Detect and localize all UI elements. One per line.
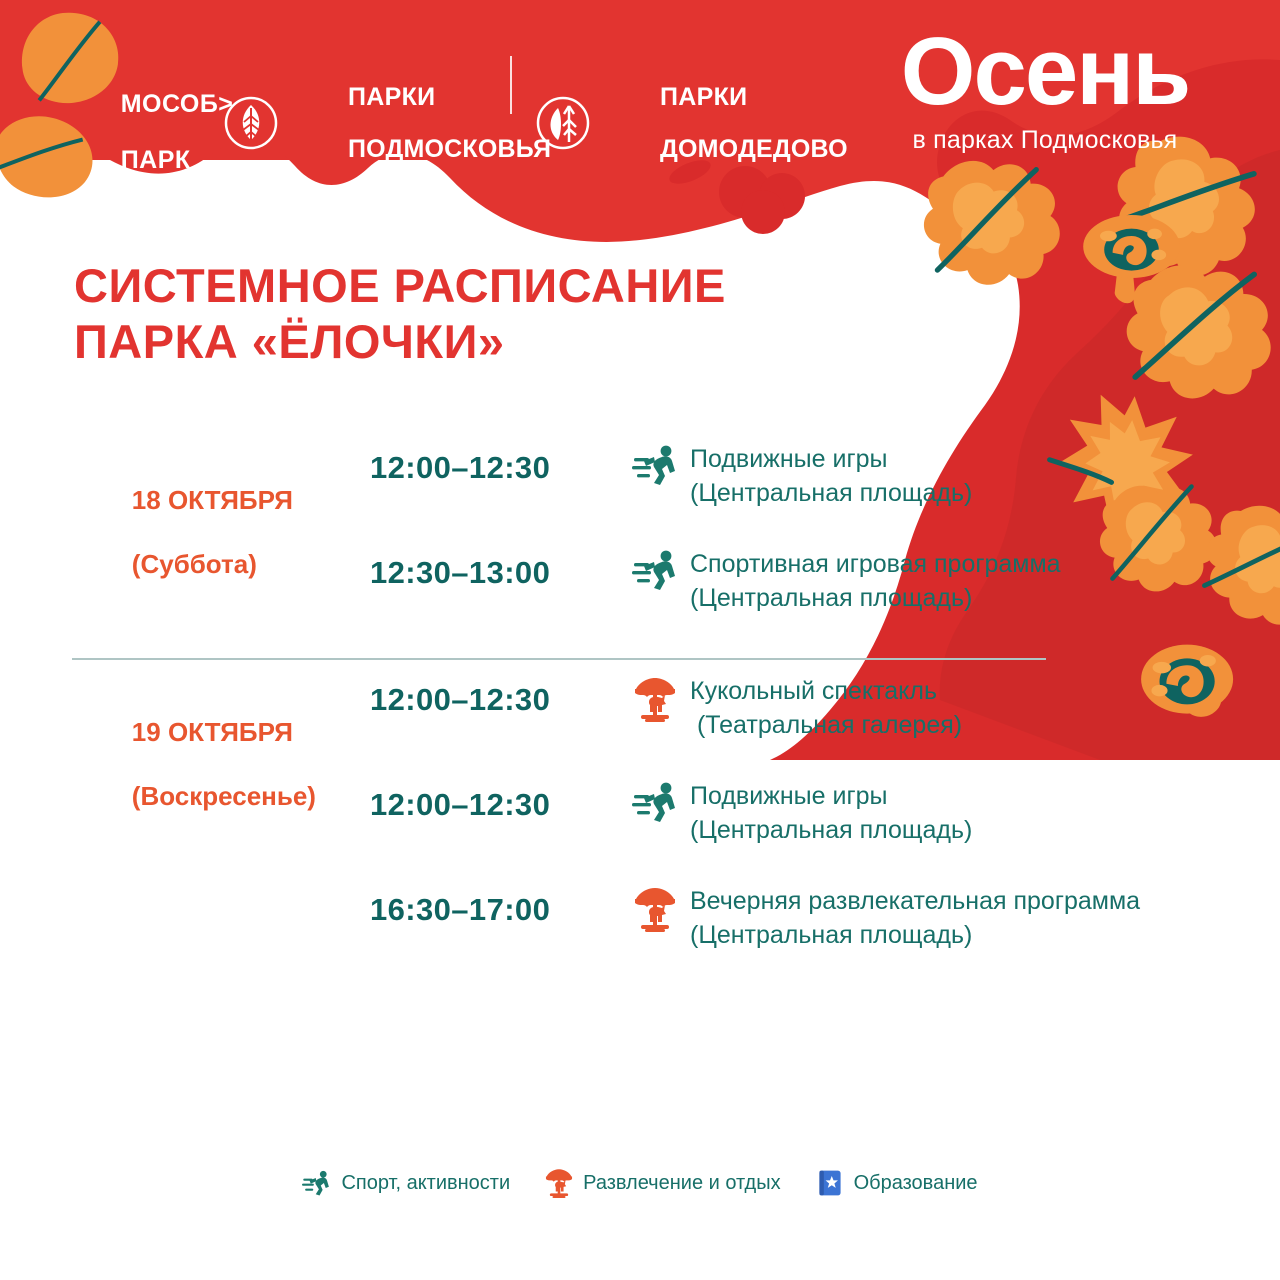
schedule-day-block: 18 ОКТЯБРЯ (Суббота) 12:00–12:30 — [0, 440, 1280, 650]
event-time: 16:30–17:00 — [370, 882, 632, 928]
event-time: 12:00–12:30 — [370, 777, 632, 823]
logo-parki-domodedovo: ПАРКИ ДОМОДЕДОВО — [536, 58, 848, 188]
event-time: 12:30–13:00 — [370, 545, 632, 591]
page-title-line1: СИСТЕМНОЕ РАСПИСАНИЕ — [74, 258, 904, 314]
campaign-subtitle: в парках Подмосковья — [845, 126, 1245, 154]
schedule-event-row[interactable]: 16:30–17:00 Вечерняя развлекательная пр — [0, 882, 1280, 987]
campaign-logo-osen: Осень в парках Подмосковья — [845, 22, 1245, 152]
event-title: Спортивная игровая программа — [690, 547, 1280, 581]
event-description: Подвижные игры (Центральная площадь) — [690, 777, 1280, 847]
legend-item-fun: Развлечение и отдых — [544, 1168, 780, 1198]
schedule-event-row[interactable]: 12:30–13:00 Спортивная игровая программ — [0, 545, 1280, 650]
logo-mosobl-line2: ПАРК — [121, 146, 191, 174]
tree-circle-icon — [536, 96, 590, 150]
leaf-oak-3 — [1118, 254, 1278, 407]
leaf-oak-1 — [912, 145, 1069, 297]
event-place: (Центральная площадь) — [690, 918, 1280, 952]
event-title: Подвижные игры — [690, 442, 1280, 476]
schedule-day-rows: 12:00–12:30 Подвижные игры — [0, 440, 1280, 650]
carousel-icon — [632, 676, 678, 722]
logo-mosobl-line1: МОСОБ> — [121, 90, 234, 118]
event-description: Кукольный спектакль (Театральная галерея… — [690, 672, 1280, 742]
schedule-list: 18 ОКТЯБРЯ (Суббота) 12:00–12:30 — [0, 440, 1280, 987]
event-place: (Центральная площадь) — [690, 476, 1280, 510]
event-title: Вечерняя развлекательная программа — [690, 884, 1280, 918]
legend-label: Образование — [854, 1171, 978, 1195]
logo-mosobl-park: МОСОБ> ПАРК — [76, 62, 233, 202]
event-category-icon — [632, 545, 690, 596]
schedule-event-row[interactable]: 12:00–12:30 Подвижные игры — [0, 777, 1280, 882]
runner-icon — [302, 1168, 332, 1198]
schedule-day-rows: 12:00–12:30 Кукольный спектакль — [0, 672, 1280, 987]
event-time: 12:00–12:30 — [370, 440, 632, 486]
legend-label: Развлечение и отдых — [583, 1171, 780, 1195]
carousel-icon — [544, 1168, 574, 1198]
logo-separator — [510, 56, 512, 114]
header-logo-row: МОСОБ> ПАРК ПАРКИ ПОДМОСКОВЬЯ — [0, 0, 1280, 165]
category-legend: Спорт, активности Развлечение и отдых Об… — [0, 1168, 1280, 1198]
carousel-icon — [632, 886, 678, 932]
event-place: (Театральная галерея) — [690, 708, 1280, 742]
runner-icon — [632, 444, 680, 486]
event-category-icon — [632, 777, 690, 828]
page-title-line2: ПАРКА «ЁЛОЧКИ» — [74, 314, 904, 370]
event-category-icon — [632, 440, 690, 491]
event-description: Вечерняя развлекательная программа (Цент… — [690, 882, 1280, 952]
logo-line2: ПОДМОСКОВЬЯ — [348, 135, 551, 163]
event-title: Кукольный спектакль — [690, 674, 1280, 708]
event-time: 12:00–12:30 — [370, 672, 632, 718]
event-category-icon — [632, 672, 690, 727]
logo-line1: ПАРКИ — [660, 83, 747, 111]
event-description: Подвижные игры (Центральная площадь) — [690, 440, 1280, 510]
event-category-icon — [632, 882, 690, 937]
page-title: СИСТЕМНОЕ РАСПИСАНИЕ ПАРКА «ЁЛОЧКИ» — [74, 258, 904, 370]
red-blob-dot — [741, 190, 785, 234]
runner-icon — [632, 781, 680, 823]
logo-line2: ДОМОДЕДОВО — [660, 135, 848, 163]
book-icon — [815, 1168, 845, 1198]
logo-line1: ПАРКИ — [348, 83, 435, 111]
schedule-event-row[interactable]: 12:00–12:30 Подвижные игры — [0, 440, 1280, 545]
schedule-day-block: 19 ОКТЯБРЯ (Воскресенье) 12:00–12:30 — [0, 672, 1280, 987]
campaign-wordmark: Осень — [845, 22, 1245, 122]
legend-label: Спорт, активности — [341, 1171, 510, 1195]
event-place: (Центральная площадь) — [690, 813, 1280, 847]
logo-parki-podmoskovya: ПАРКИ ПОДМОСКОВЬЯ — [224, 58, 551, 188]
poster-root: МОСОБ> ПАРК ПАРКИ ПОДМОСКОВЬЯ — [0, 0, 1280, 1280]
event-title: Подвижные игры — [690, 779, 1280, 813]
event-description: Спортивная игровая программа (Центральна… — [690, 545, 1280, 615]
runner-icon — [632, 549, 680, 591]
leaf-circle-icon — [224, 96, 278, 150]
mushroom-icon-1 — [1083, 215, 1180, 303]
schedule-event-row[interactable]: 12:00–12:30 Кукольный спектакль — [0, 672, 1280, 777]
logo-parki-domodedovo-text: ПАРКИ ДОМОДЕДОВО — [602, 58, 848, 188]
legend-item-sport: Спорт, активности — [302, 1168, 510, 1198]
day-divider — [72, 658, 1046, 660]
event-place: (Центральная площадь) — [690, 581, 1280, 615]
legend-item-education: Образование — [815, 1168, 978, 1198]
